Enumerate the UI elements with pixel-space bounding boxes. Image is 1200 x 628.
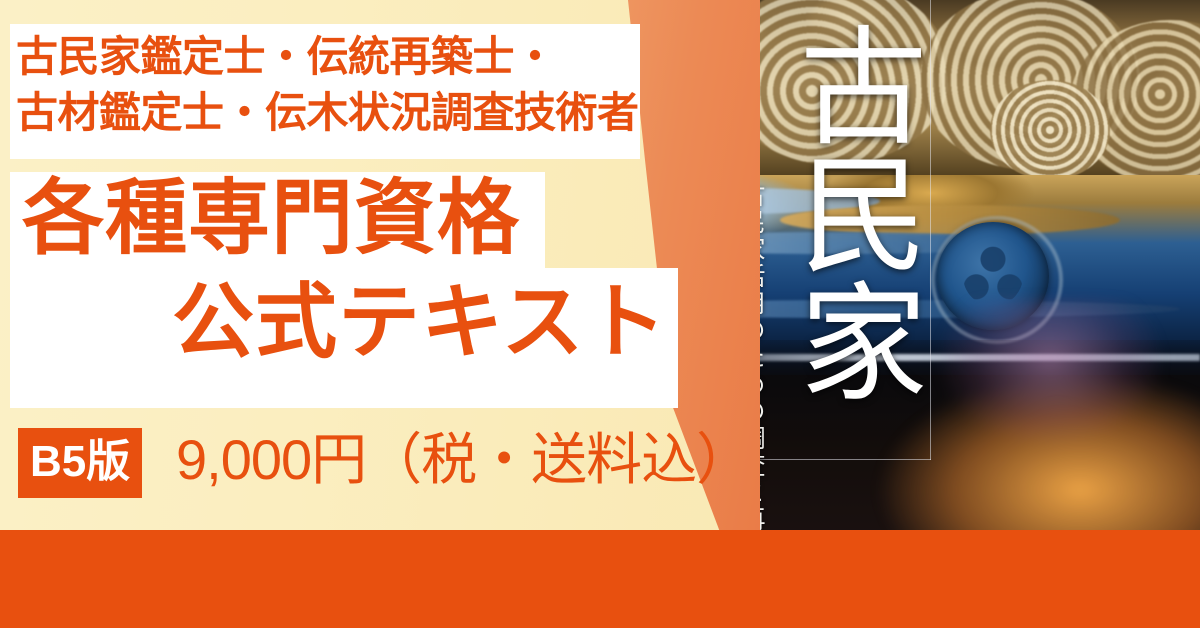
format-badge: B5版 — [18, 428, 142, 498]
cover-title: 古民家 — [750, 20, 926, 450]
qualifications-line-2: 古材鑑定士・伝木状況調査技術者 — [16, 85, 636, 141]
qualifications-line-1: 古民家鑑定士・伝統再築士・ — [16, 29, 636, 85]
promotional-banner: 伝統構法、 古民家活用のための調査と再生の 古民家 古民家鑑定士・伝統再築士・ … — [0, 0, 1200, 628]
main-heading-line-2: 公式テキスト — [172, 282, 668, 364]
title-frame-right — [930, 0, 931, 460]
cta-bar[interactable]: 詳細・ご購入はこちら — [0, 530, 1200, 628]
main-heading-line-1: 各種専門資格 — [22, 178, 520, 260]
price-text: 9,000円（税・送料込） — [176, 432, 751, 488]
qualifications-heading: 古民家鑑定士・伝統再築士・ 古材鑑定士・伝木状況調査技術者 — [16, 29, 636, 141]
title-frame-bottom — [745, 459, 931, 460]
